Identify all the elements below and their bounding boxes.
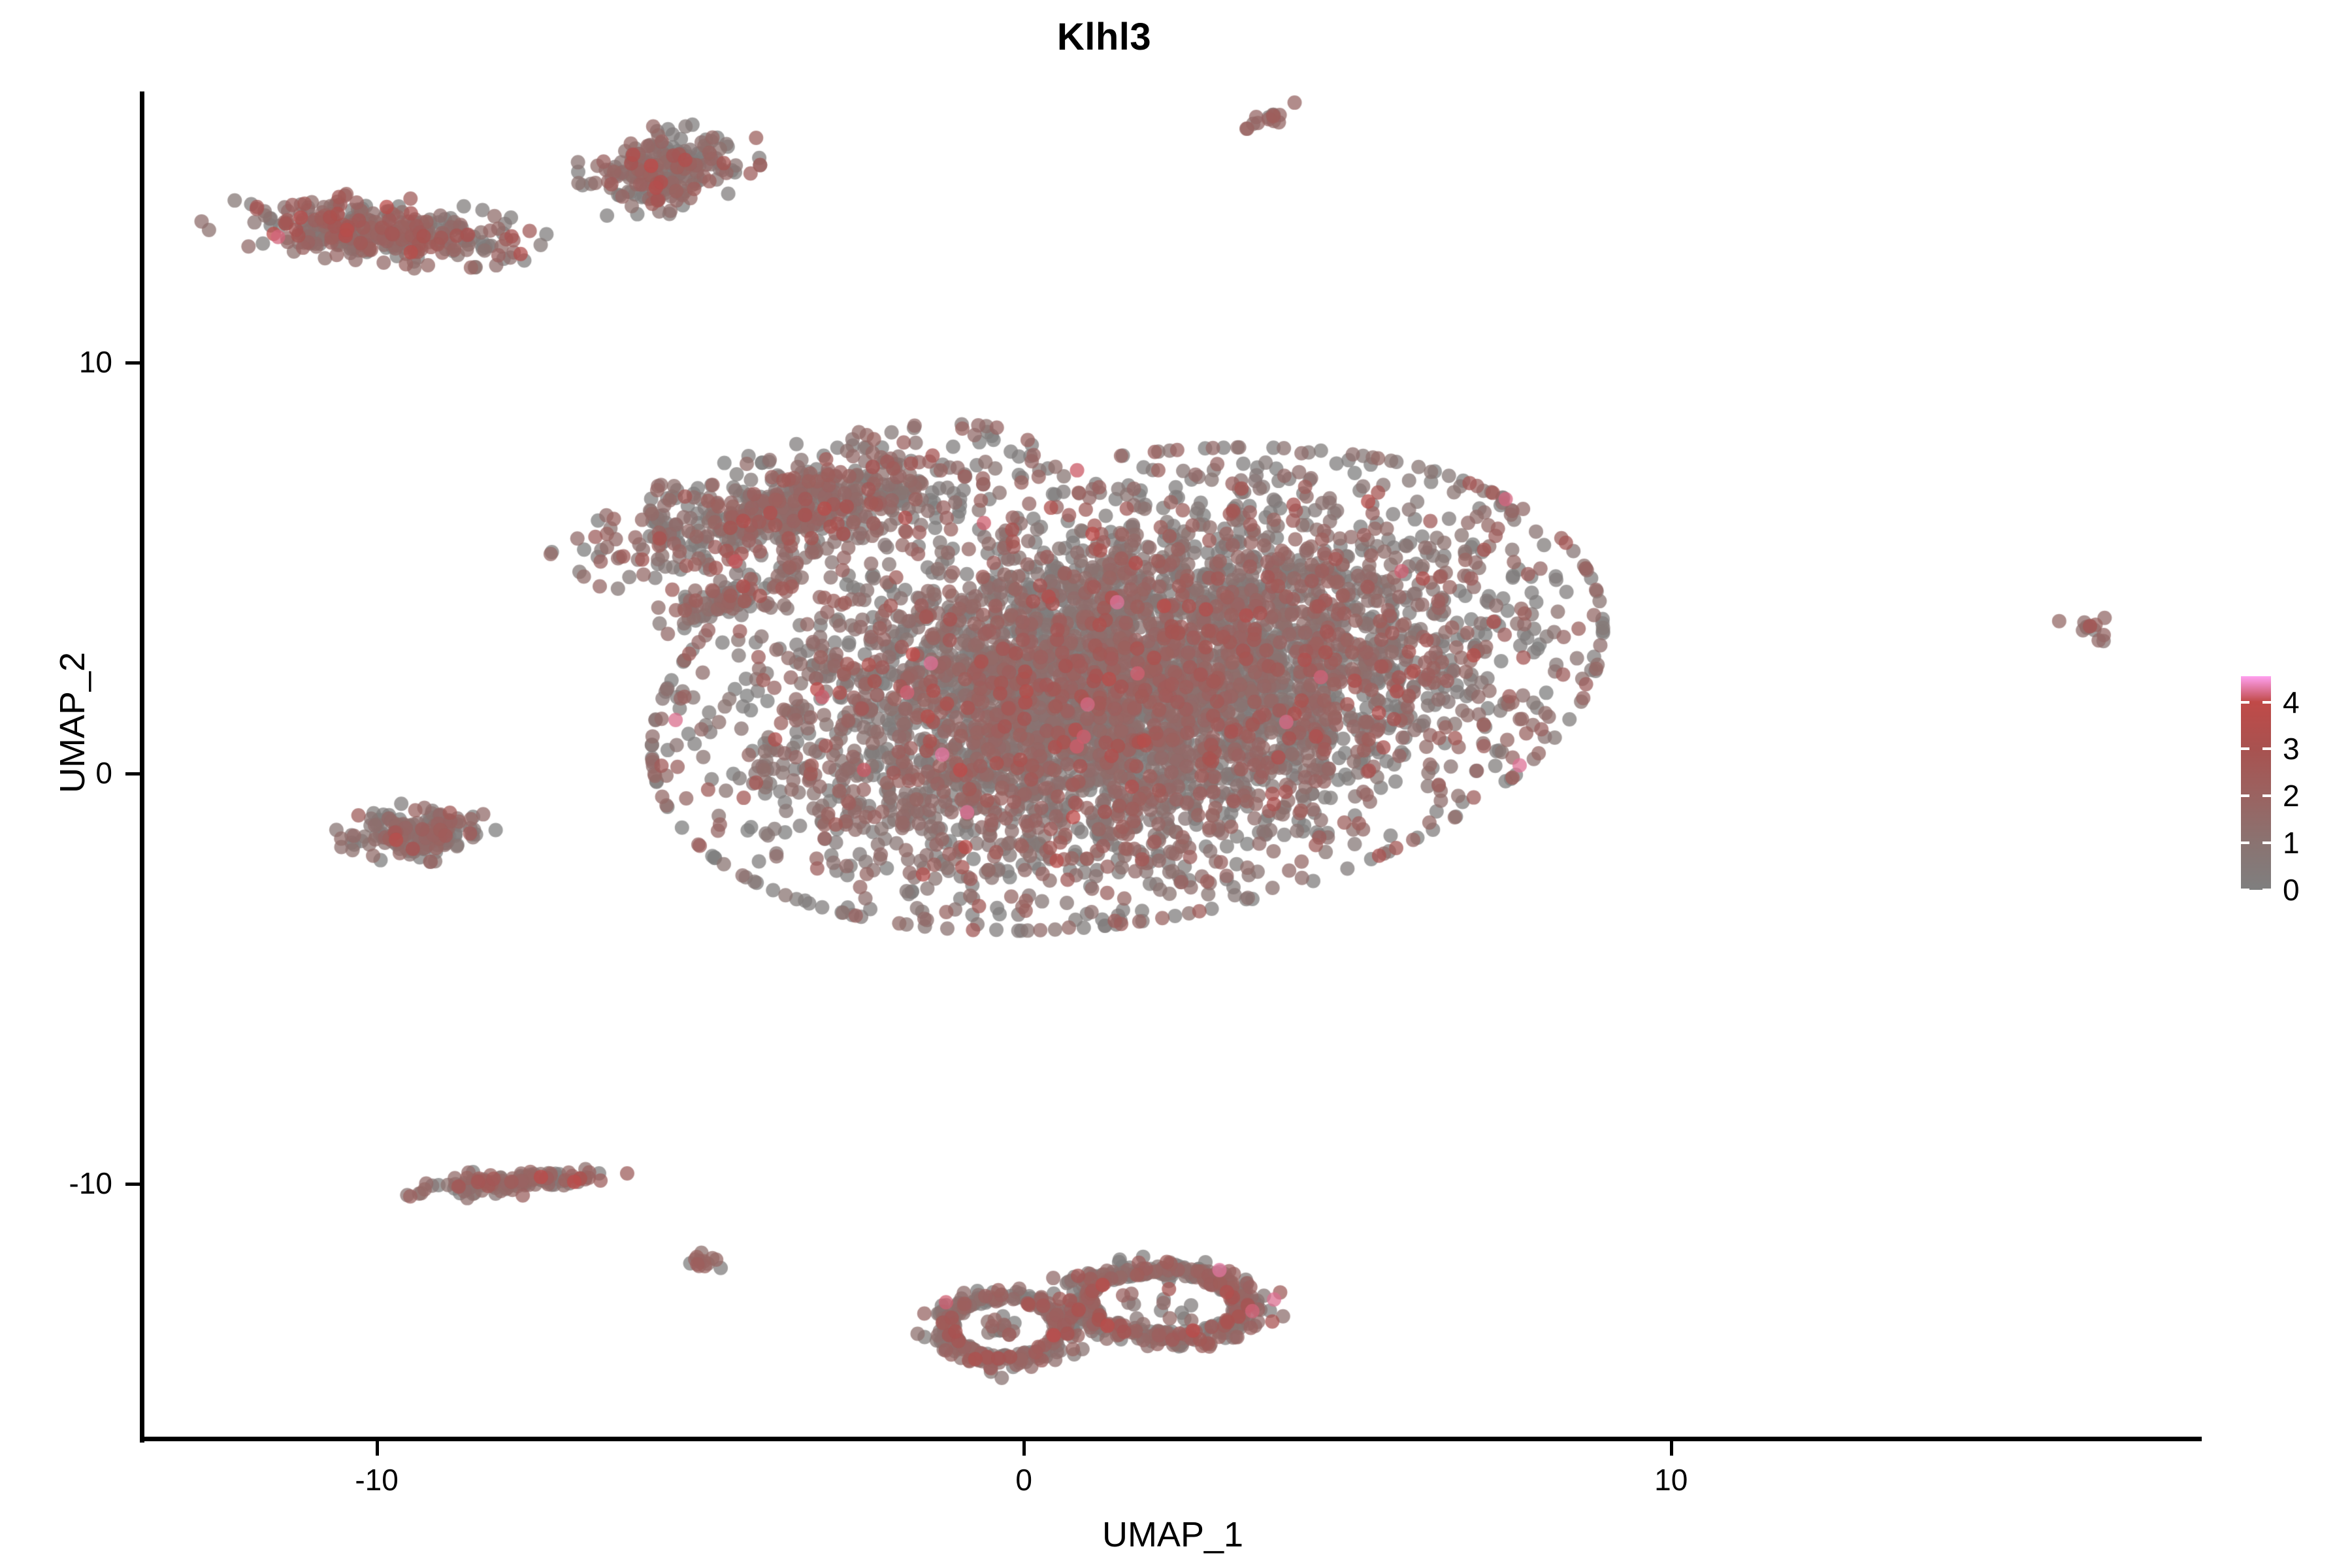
legend-colorbar xyxy=(2241,676,2271,890)
y-axis-line xyxy=(140,91,144,1443)
legend-tick-mark xyxy=(2241,841,2249,844)
x-tick-label: -10 xyxy=(299,1462,455,1497)
legend-tick-mark xyxy=(2262,794,2271,797)
x-tick-mark xyxy=(1022,1441,1026,1456)
legend-label: 4 xyxy=(2283,687,2300,717)
legend-tick-mark xyxy=(2241,747,2249,750)
page-title: Klhl3 xyxy=(0,18,2208,56)
legend-label: 3 xyxy=(2283,734,2300,764)
x-axis-line xyxy=(140,1437,2202,1441)
legend-label: 0 xyxy=(2283,875,2300,905)
x-tick-label: 0 xyxy=(945,1462,1102,1497)
y-tick-mark xyxy=(125,1183,140,1186)
x-tick-mark xyxy=(1670,1441,1673,1456)
y-axis-label-wrapper: UMAP_2 xyxy=(52,49,93,1396)
umap-feature-plot: Klhl3 -10010100-10 UMAP_1 UMAP_2 43210 xyxy=(0,0,2352,1568)
x-axis-label: UMAP_1 xyxy=(144,1514,2202,1555)
y-tick-mark xyxy=(125,772,140,776)
legend-tick-mark xyxy=(2262,889,2271,891)
plot-panel xyxy=(144,91,2202,1439)
y-axis-label: UMAP_2 xyxy=(52,652,93,793)
y-tick-mark xyxy=(125,361,140,365)
legend-tick-mark xyxy=(2262,747,2271,750)
legend-tick-mark xyxy=(2262,701,2271,704)
legend-tick-mark xyxy=(2241,889,2249,891)
x-tick-label: 10 xyxy=(1593,1462,1750,1497)
color-legend: 43210 xyxy=(2241,676,2345,892)
legend-tick-mark xyxy=(2241,701,2249,704)
scatter-points-layer xyxy=(144,91,2202,1439)
x-tick-mark xyxy=(376,1441,379,1456)
legend-label: 1 xyxy=(2283,828,2300,858)
legend-tick-mark xyxy=(2262,841,2271,844)
legend-tick-mark xyxy=(2241,794,2249,797)
legend-label: 2 xyxy=(2283,781,2300,811)
